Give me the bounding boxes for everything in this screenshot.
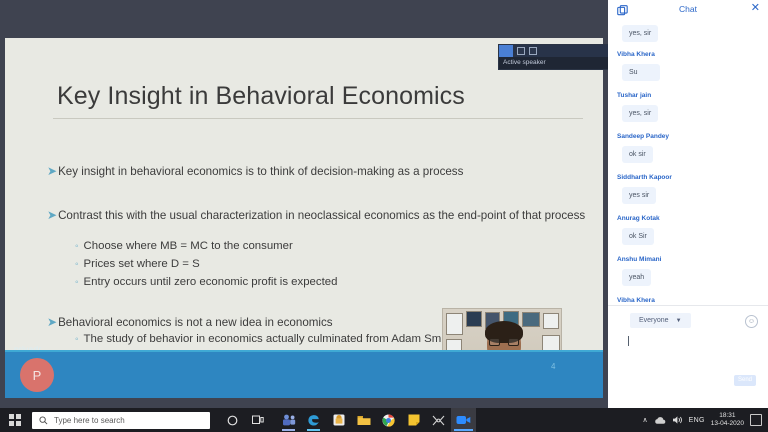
bullet-text: Contrast this with the usual characteriz… — [58, 209, 585, 222]
active-tab-indicator — [499, 45, 513, 57]
chat-message: Sandeep Pandey ok sir — [608, 133, 768, 174]
wall-frame — [446, 339, 462, 350]
bullet-text: Behavioral economics is not a new idea i… — [58, 316, 333, 329]
search-placeholder: Type here to search — [54, 416, 125, 425]
chat-message: Siddharth Kapoor yes sir — [608, 174, 768, 215]
windows-logo-icon — [9, 414, 21, 426]
chat-sender-name: Vibha Khera — [617, 51, 768, 58]
clock-time: 18:31 — [711, 412, 744, 420]
chat-bubble: yes, sir — [622, 105, 658, 122]
cortana-icon[interactable] — [220, 408, 245, 432]
teams-icon[interactable] — [276, 408, 301, 432]
chat-message-list[interactable]: yes, sir Vibha Khera Su Tushar jain yes,… — [608, 22, 768, 305]
chat-divider — [608, 305, 768, 306]
search-input[interactable]: Type here to search — [32, 412, 210, 429]
chat-title: Chat — [608, 4, 768, 14]
circle-bullet-icon: ◦ — [75, 259, 79, 270]
send-button[interactable]: Send — [734, 375, 756, 386]
chat-recipient-label: Everyone — [639, 317, 669, 324]
action-center-icon[interactable] — [750, 414, 762, 426]
gallery-view-icon[interactable] — [517, 47, 525, 55]
title-divider — [53, 118, 583, 119]
search-icon — [39, 416, 48, 425]
circle-bullet-icon: ◦ — [75, 277, 79, 288]
chat-bubble: ok sir — [622, 146, 653, 163]
bullet-level2: ◦Entry occurs until zero economic profit… — [75, 275, 575, 291]
system-tray: ∧ ENG 18:31 13-04-2020 — [643, 408, 768, 432]
chat-message: Anshu Mimani yeah — [608, 256, 768, 297]
bullet-level1: ➤Contrast this with the usual characteri… — [47, 208, 587, 223]
chat-message: yes, sir — [608, 22, 768, 51]
circle-bullet-icon: ◦ — [75, 334, 79, 345]
show-hidden-icons-icon[interactable]: ∧ — [643, 416, 648, 424]
file-explorer-icon[interactable] — [351, 408, 376, 432]
bullet-level2: ◦Prices set where D = S — [75, 257, 575, 273]
chat-sender-name: Vibha Khera — [617, 297, 768, 304]
chat-message: Anurag Kotak ok Sir — [608, 215, 768, 256]
bullet-text: Choose where MB = MC to the consumer — [84, 240, 293, 252]
chat-sender-name: Anurag Kotak — [617, 215, 768, 222]
wall-frame — [446, 313, 463, 335]
speaker-video-thumbnail[interactable]: Neoclassical Economics sai Economics — [442, 308, 562, 350]
chat-message: Vibha Khera We can see you — [608, 297, 768, 305]
chat-input[interactable] — [628, 336, 758, 350]
chat-bubble: ok Sir — [622, 228, 654, 245]
slide-number: 4 — [551, 362, 555, 371]
wall-frame — [522, 312, 540, 327]
chat-message: Vibha Khera Su — [608, 51, 768, 92]
chat-sender-name: Anshu Mimani — [617, 256, 768, 263]
chat-bubble: yeah — [622, 269, 651, 286]
arrow-bullet-icon: ➤ — [47, 208, 57, 222]
store-icon[interactable] — [326, 408, 351, 432]
circle-bullet-icon: ◦ — [75, 241, 79, 252]
bullet-level1: ➤Key insight in behavioral economics is … — [47, 164, 587, 179]
chrome-icon[interactable] — [376, 408, 401, 432]
clock-date: 13-04-2020 — [711, 420, 744, 428]
app-icon[interactable] — [426, 408, 451, 432]
edge-icon[interactable] — [301, 408, 326, 432]
chevron-down-icon: ▼ — [676, 318, 682, 324]
glasses-icon — [489, 338, 519, 346]
chat-message: Tushar jain yes, sir — [608, 92, 768, 133]
wall-frame — [542, 335, 560, 350]
sticky-notes-icon[interactable] — [401, 408, 426, 432]
start-button[interactable] — [0, 408, 30, 432]
active-speaker-toolbar — [499, 45, 608, 57]
zoom-icon[interactable] — [451, 408, 476, 432]
arrow-bullet-icon: ➤ — [47, 164, 57, 178]
chat-panel: Chat ✕ yes, sir Vibha Khera Su Tushar ja… — [608, 0, 768, 408]
avatar: P — [20, 358, 54, 392]
bullet-text: Prices set where D = S — [84, 258, 200, 270]
active-speaker-panel[interactable]: Active speaker — [498, 44, 608, 70]
volume-icon[interactable] — [672, 415, 683, 425]
active-speaker-label: Active speaker — [503, 59, 546, 66]
chat-sender-name: Siddharth Kapoor — [617, 174, 768, 181]
task-view-icon[interactable] — [245, 408, 270, 432]
chat-sender-name: Tushar jain — [617, 92, 768, 99]
bullet-level2: ◦Choose where MB = MC to the consumer — [75, 239, 575, 255]
emoji-icon[interactable]: ☺ — [745, 315, 758, 328]
text-caret — [628, 336, 629, 346]
chat-bubble: Su — [622, 64, 660, 81]
presenter-bottom-bar — [5, 352, 603, 398]
chat-sender-name: Sandeep Pandey — [617, 133, 768, 140]
zoom-share-stage: Key Insight in Behavioral Economics ➤Key… — [0, 0, 608, 408]
close-icon[interactable]: ✕ — [751, 3, 760, 14]
chat-header: Chat ✕ — [608, 0, 768, 22]
chat-recipient-dropdown[interactable]: Everyone ▼ — [630, 313, 691, 328]
language-indicator[interactable]: ENG — [689, 417, 705, 424]
speaker-view-icon[interactable] — [529, 47, 537, 55]
arrow-bullet-icon: ➤ — [47, 315, 57, 329]
chat-bubble: yes sir — [622, 187, 656, 204]
chat-bubble: yes, sir — [622, 25, 658, 42]
chat-recipient-row: Everyone ▼ ☺ — [608, 313, 768, 333]
bullet-text: Entry occurs until zero economic profit … — [84, 276, 338, 288]
windows-taskbar: Type here to search — [0, 408, 768, 432]
presentation-slide: Key Insight in Behavioral Economics ➤Key… — [5, 38, 603, 350]
wall-frame — [543, 313, 559, 329]
onedrive-cloud-icon[interactable] — [654, 416, 666, 425]
page-title: Key Insight in Behavioral Economics — [57, 82, 465, 111]
wall-frame — [466, 311, 482, 327]
clock[interactable]: 18:31 13-04-2020 — [711, 412, 744, 428]
bullet-text: Key insight in behavioral economics is t… — [58, 165, 463, 178]
